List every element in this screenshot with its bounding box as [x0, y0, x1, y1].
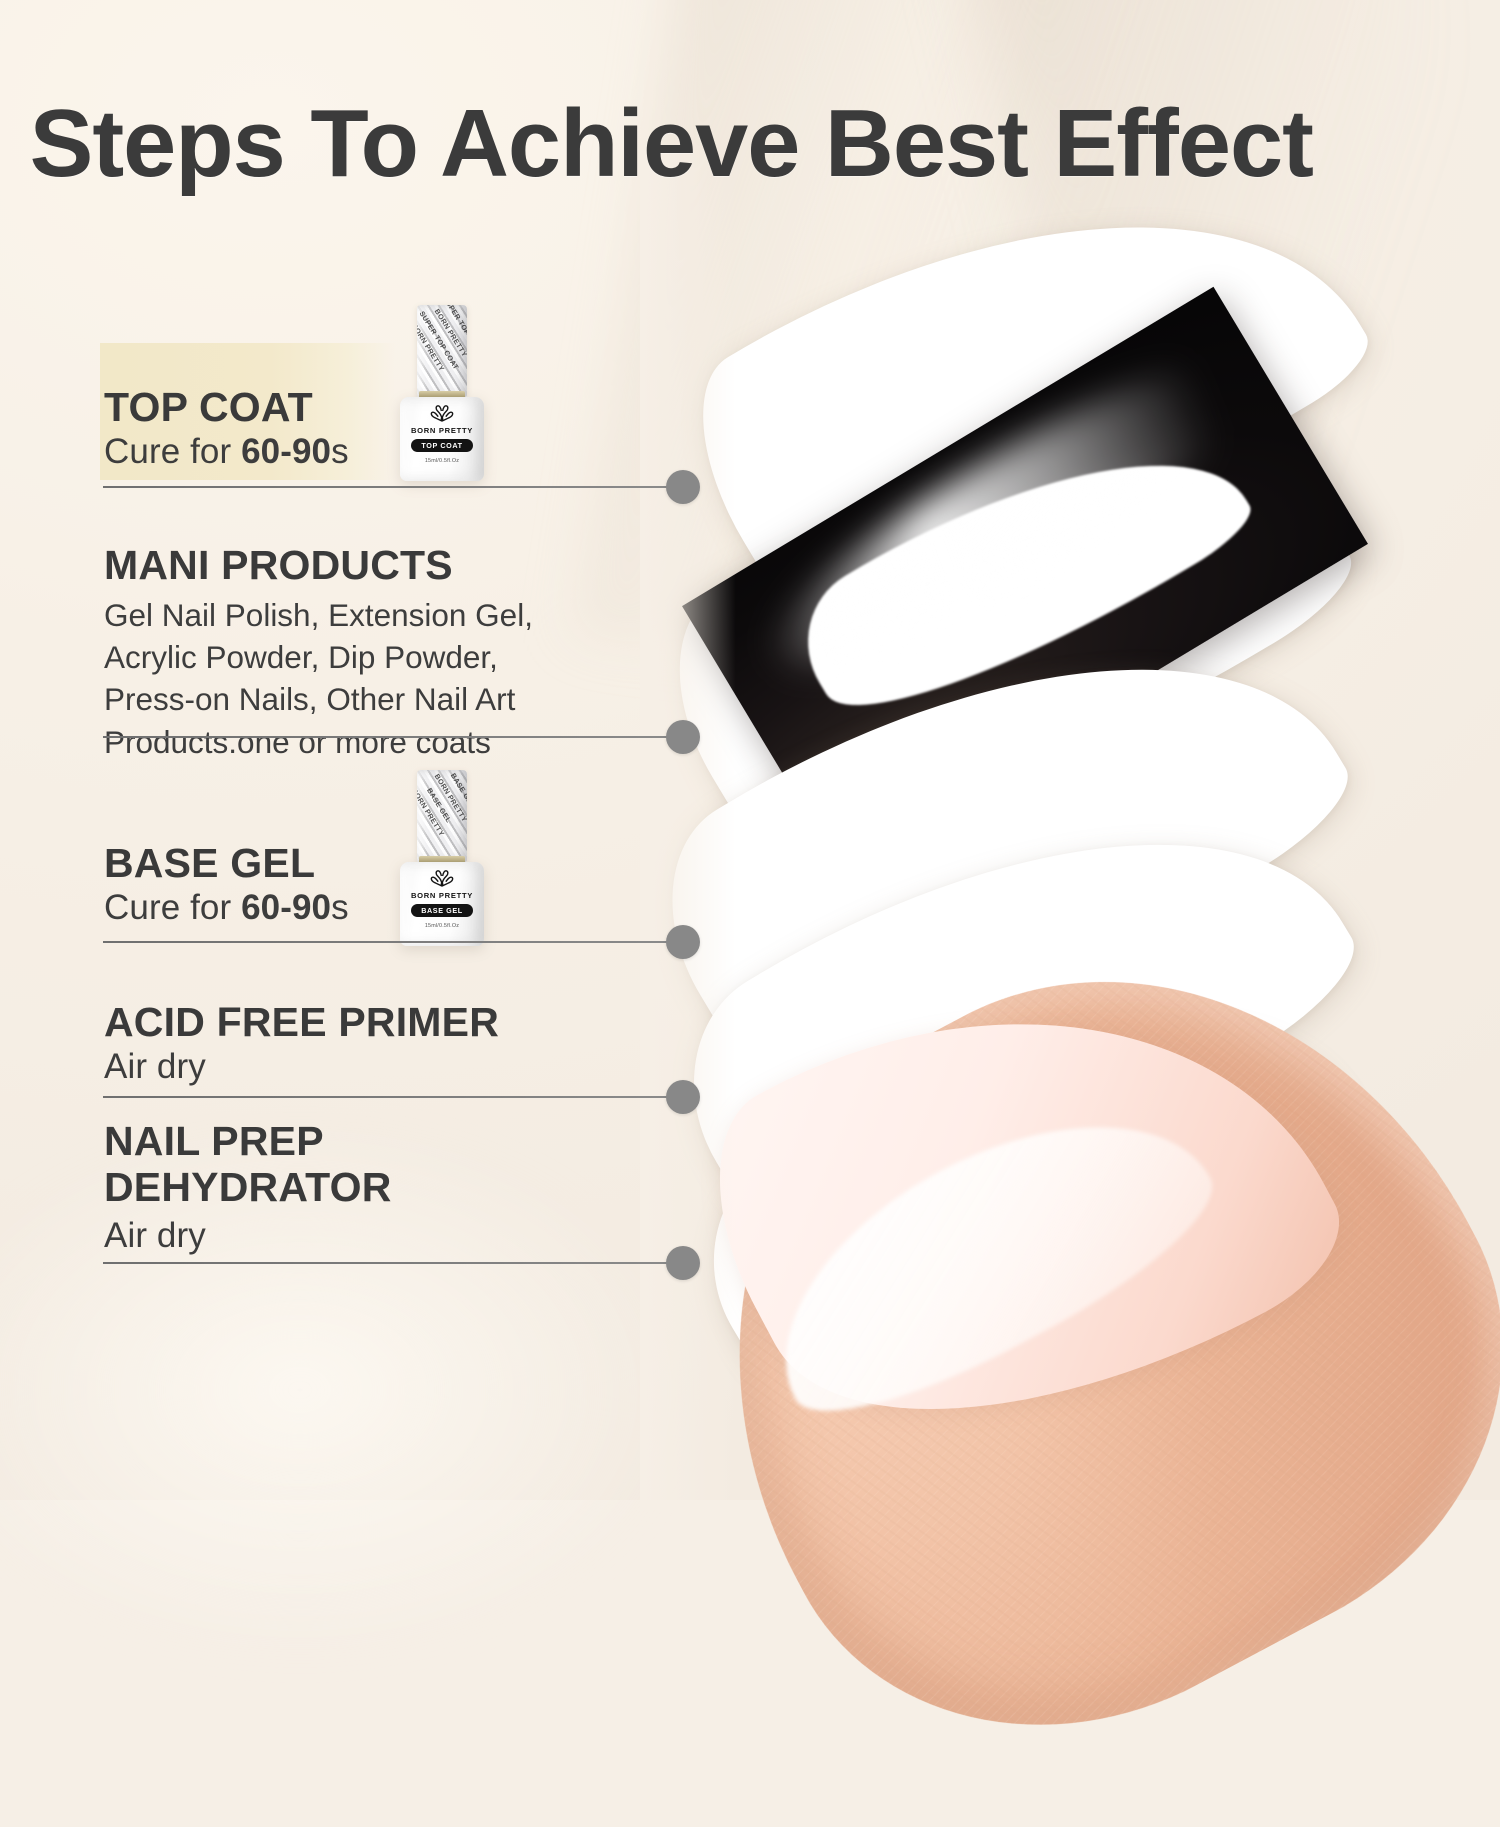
steps-list: TOP COAT Cure for 60-90s SUPER TOP COAT … — [0, 0, 720, 1500]
step-connector-dot — [666, 1080, 700, 1114]
bottle-volume: 15ml/0.5fl.Oz — [400, 923, 484, 929]
step-connector-line — [103, 1262, 681, 1264]
step-connector-line — [103, 1096, 681, 1098]
bottle-cap: BASE GEL BORN PRETTY BASE GEL BORN PRETT… — [417, 770, 467, 862]
bottle-body: BORN PRETTY BASE GEL 15ml/0.5fl.Oz — [400, 862, 484, 946]
step-connector-dot — [666, 1246, 700, 1280]
step-subtitle-bold: 60-90 — [241, 432, 331, 471]
step-subtitle: Cure for 60-90s — [104, 888, 349, 928]
bottle-label: BASE GEL — [411, 904, 473, 917]
step-title: BASE GEL — [104, 841, 315, 887]
step-connector-dot — [666, 925, 700, 959]
bottle-label: TOP COAT — [411, 439, 473, 452]
step-subtitle-suffix: s — [331, 888, 349, 927]
step-connector-line — [103, 941, 681, 943]
bottle-volume: 15ml/0.5fl.Oz — [400, 458, 484, 464]
step-title: NAIL PREP DEHYDRATOR — [104, 1119, 392, 1211]
bottle-body: BORN PRETTY TOP COAT 15ml/0.5fl.Oz — [400, 397, 484, 481]
step-title: ACID FREE PRIMER — [104, 1000, 499, 1046]
bottle-brand: BORN PRETTY — [400, 426, 484, 435]
bottle-cap-text: SUPER TOP COAT BORN PRETTY SUPER TOP COA… — [417, 305, 467, 397]
step-subtitle: Air dry — [104, 1216, 206, 1256]
step-subtitle-suffix: s — [331, 432, 349, 471]
bottle-brand: BORN PRETTY — [400, 891, 484, 900]
step-title: MANI PRODUCTS — [104, 543, 453, 589]
step-title: TOP COAT — [104, 385, 313, 431]
step-subtitle-prefix: Cure for — [104, 432, 241, 471]
step-connector-dot — [666, 470, 700, 504]
born-pretty-flower-icon — [400, 869, 484, 892]
nail-layers-artwork — [640, 150, 1500, 1510]
step-subtitle: Air dry — [104, 1047, 206, 1087]
born-pretty-flower-icon — [400, 404, 484, 427]
step-subtitle: Cure for 60-90s — [104, 432, 349, 472]
step-connector-line — [103, 736, 681, 738]
bottle-cap-text: BASE GEL BORN PRETTY BASE GEL BORN PRETT… — [417, 770, 467, 862]
step-subtitle-prefix: Cure for — [104, 888, 241, 927]
step-subtitle-bold: 60-90 — [241, 888, 331, 927]
bottle-top-coat: SUPER TOP COAT BORN PRETTY SUPER TOP COA… — [394, 305, 490, 481]
bottle-base-gel: BASE GEL BORN PRETTY BASE GEL BORN PRETT… — [394, 770, 490, 946]
bottle-cap: SUPER TOP COAT BORN PRETTY SUPER TOP COA… — [417, 305, 467, 397]
step-connector-dot — [666, 720, 700, 754]
step-connector-line — [103, 486, 681, 488]
